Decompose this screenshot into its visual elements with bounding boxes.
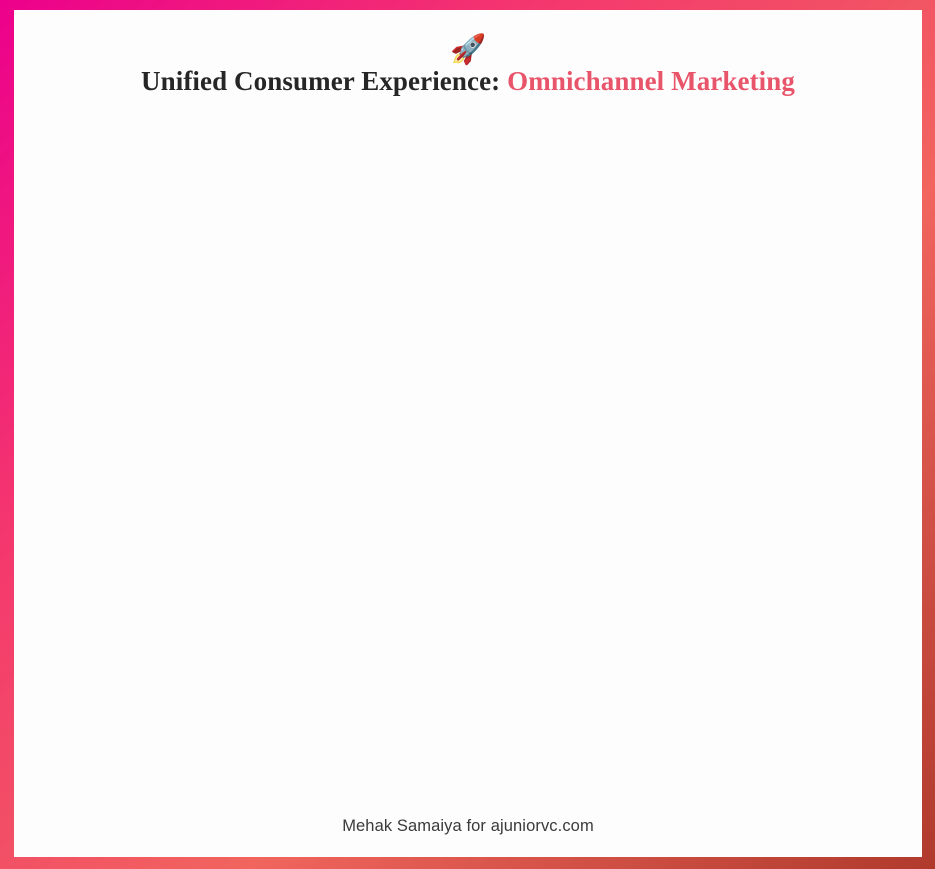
page-title-main: Unified Consumer Experience: [141, 66, 500, 96]
rocket-icon: 🚀 [450, 32, 486, 66]
footer-credit: Mehak Samaiya for ajuniorvc.com [342, 817, 594, 835]
page-title: Unified Consumer Experience: Omnichannel… [141, 66, 795, 98]
slide-frame: 🚀 Unified Consumer Experience: Omnichann… [0, 0, 935, 869]
slide-footer: Mehak Samaiya for ajuniorvc.com [14, 817, 922, 857]
slide-body-content-area [14, 98, 922, 817]
slide-canvas: 🚀 Unified Consumer Experience: Omnichann… [14, 10, 922, 857]
slide-header: 🚀 Unified Consumer Experience: Omnichann… [14, 10, 922, 98]
page-title-accent: Omnichannel Marketing [507, 66, 795, 96]
